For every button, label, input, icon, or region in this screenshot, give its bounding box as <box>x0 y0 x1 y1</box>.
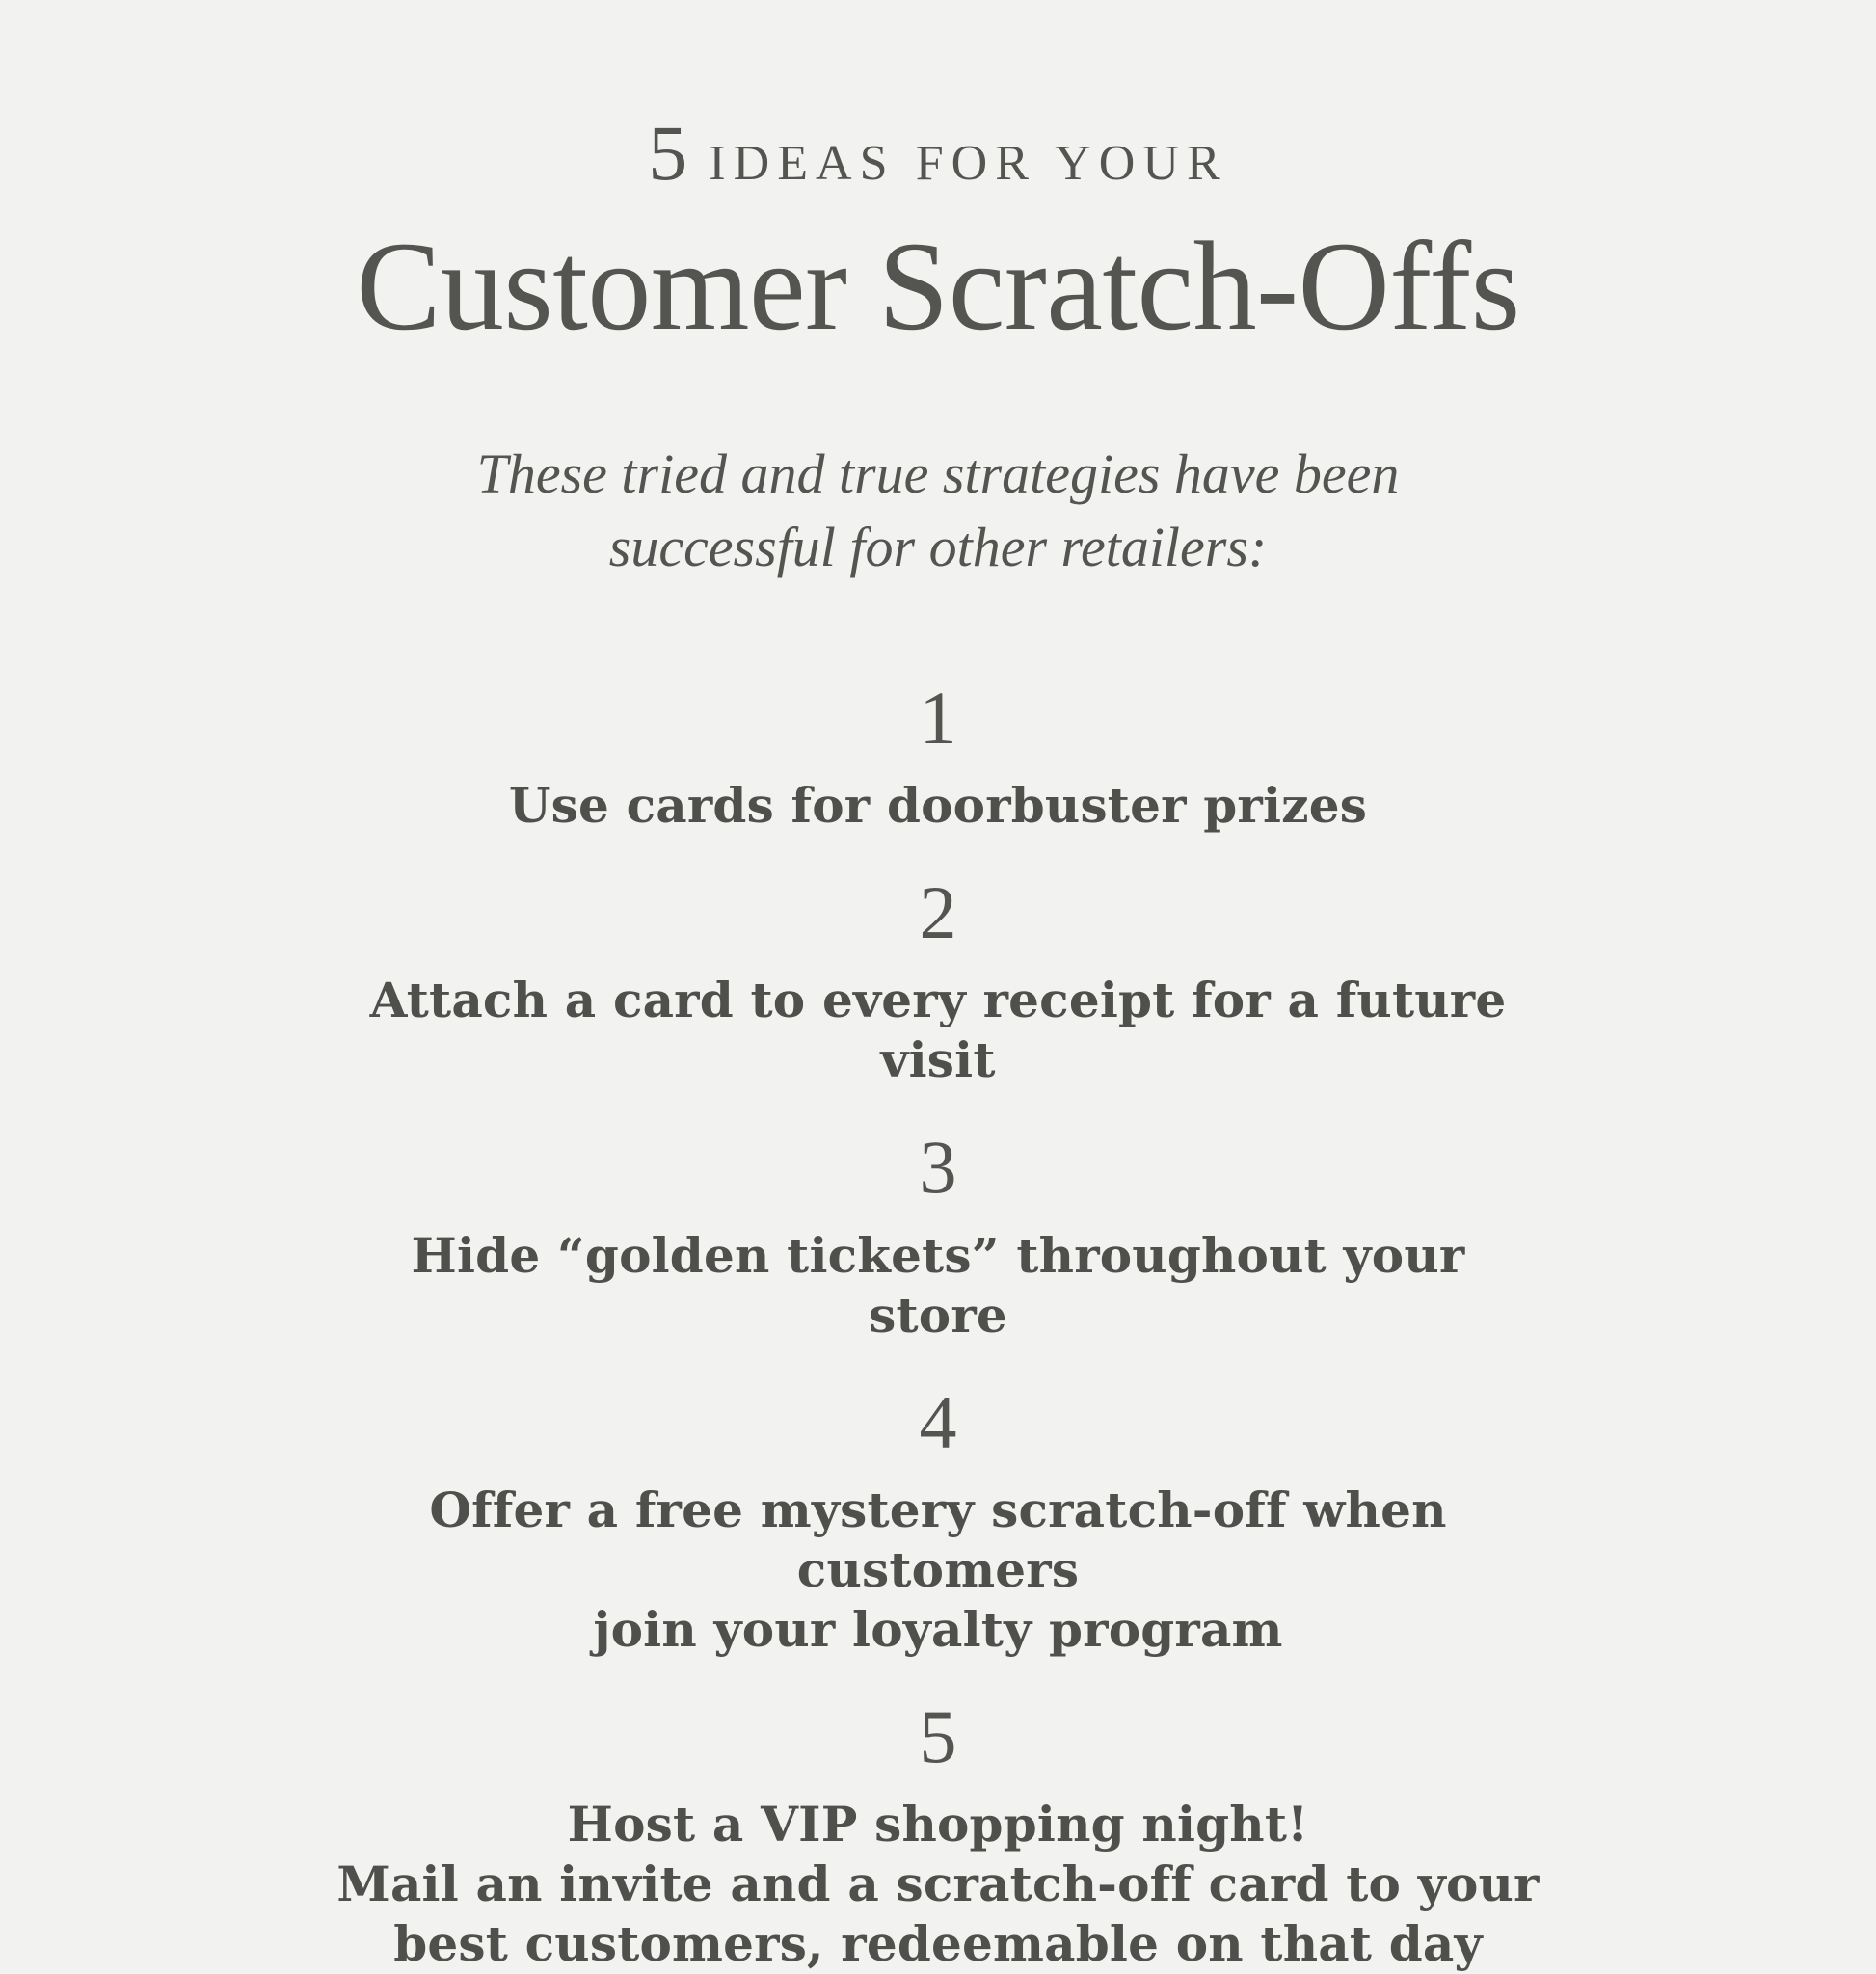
eyebrow-count-number: 5 <box>648 109 687 197</box>
idea-text-line: Use cards for doorbuster prizes <box>335 776 1541 836</box>
idea-text: Use cards for doorbuster prizes <box>335 776 1541 836</box>
poster-page: 5IDEAS FOR YOUR Customer Scratch-Offs Th… <box>0 0 1876 1876</box>
idea-text: Host a VIP shopping night! Mail an invit… <box>335 1795 1541 1974</box>
ideas-list: 1 Use cards for doorbuster prizes 2 Atta… <box>335 678 1541 1974</box>
list-item: 3 Hide “golden tickets” throughout your … <box>335 1127 1541 1345</box>
idea-text: Offer a free mystery scratch-off when cu… <box>335 1480 1541 1660</box>
list-item: 2 Attach a card to every receipt for a f… <box>335 872 1541 1090</box>
idea-text: Hide “golden tickets” throughout your st… <box>335 1226 1541 1346</box>
idea-text-line: Hide “golden tickets” throughout your st… <box>335 1226 1541 1346</box>
idea-text: Attach a card to every receipt for a fut… <box>335 971 1541 1090</box>
idea-text-line: Mail an invite and a scratch-off card to… <box>335 1854 1541 1914</box>
idea-number: 1 <box>335 678 1541 759</box>
eyebrow-heading: 5IDEAS FOR YOUR <box>0 114 1876 193</box>
list-item: 1 Use cards for doorbuster prizes <box>335 678 1541 836</box>
subtitle-line-2: successful for other retailers: <box>609 516 1268 578</box>
idea-text-line: join your loyalty program <box>335 1600 1541 1660</box>
idea-number: 3 <box>335 1127 1541 1208</box>
idea-text-line: Attach a card to every receipt for a fut… <box>335 971 1541 1090</box>
idea-number: 5 <box>335 1696 1541 1777</box>
eyebrow-label: IDEAS FOR YOUR <box>687 136 1228 191</box>
list-item: 4 Offer a free mystery scratch-off when … <box>335 1382 1541 1660</box>
subtitle-line-1: These tried and true strategies have bee… <box>477 442 1400 505</box>
poster-header: 5IDEAS FOR YOUR Customer Scratch-Offs Th… <box>0 0 1876 585</box>
idea-number: 4 <box>335 1382 1541 1463</box>
idea-text-line: Host a VIP shopping night! <box>335 1795 1541 1854</box>
page-subtitle: These tried and true strategies have bee… <box>442 438 1434 585</box>
list-item: 5 Host a VIP shopping night! Mail an inv… <box>335 1696 1541 1974</box>
idea-text-line: Offer a free mystery scratch-off when cu… <box>335 1480 1541 1600</box>
idea-number: 2 <box>335 872 1541 953</box>
idea-text-line: best customers, redeemable on that day <box>335 1914 1541 1974</box>
page-title: Customer Scratch-Offs <box>0 220 1876 352</box>
